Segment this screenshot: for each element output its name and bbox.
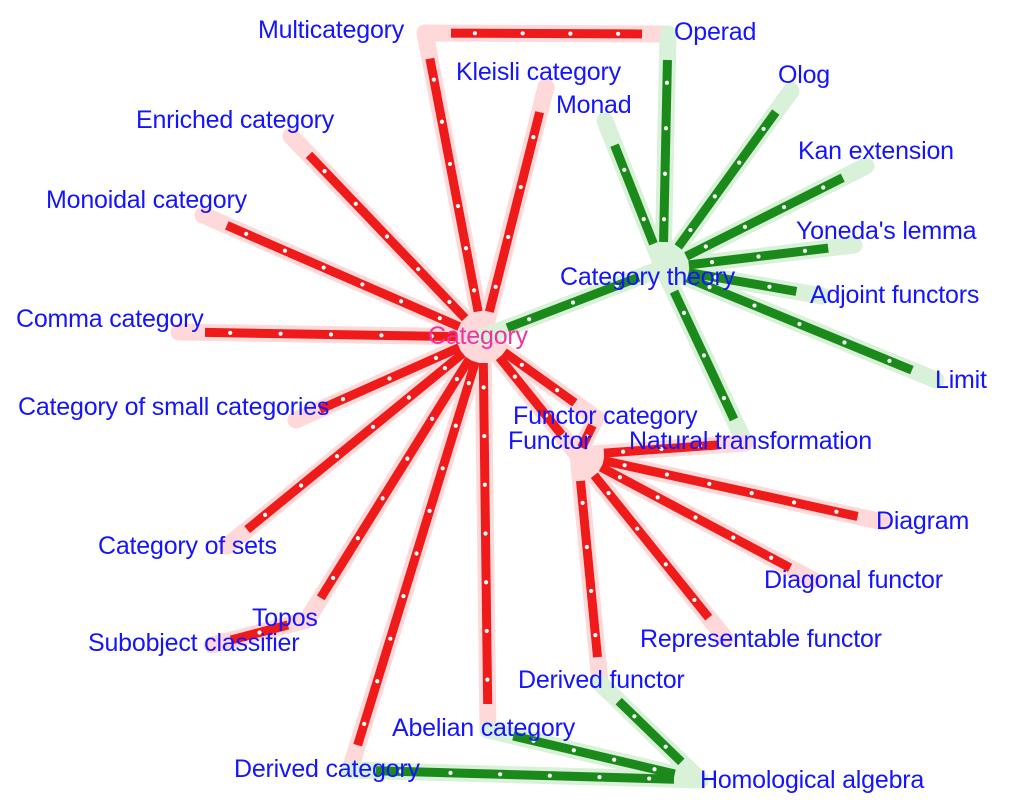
edge-direction-dot <box>356 536 360 540</box>
edge-direction-dot <box>756 254 760 258</box>
edge-direction-dot <box>606 491 610 495</box>
edge-direction-dot <box>635 527 639 531</box>
edge-direction-dot <box>792 500 796 504</box>
node-label-enriched-category[interactable]: Enriched category <box>136 108 334 133</box>
edge-direction-dot <box>663 172 667 176</box>
edge-direction-dot <box>622 168 626 172</box>
edge-direction-dot <box>322 169 326 173</box>
edge-direction-dot <box>455 377 459 381</box>
edge-direction-dot <box>589 589 593 593</box>
node-label-natural-transformation[interactable]: Natural transformation <box>629 429 872 454</box>
edge-direction-dot <box>665 472 669 476</box>
edge-direction-dot <box>448 162 452 166</box>
edge-direction-dot <box>483 531 487 535</box>
node-label-functor[interactable]: Functor <box>508 429 591 454</box>
node-label-category-theory[interactable]: Category theory <box>560 265 735 290</box>
edge-direction-dot <box>485 629 489 633</box>
edge-direction-dot <box>278 332 282 336</box>
edge-direction-dot <box>707 482 711 486</box>
edge-direction-dot <box>622 463 626 467</box>
node-label-category-of-small[interactable]: Category of small categories <box>18 395 329 420</box>
edge-direction-dot <box>407 395 411 399</box>
edge-direction-dot <box>782 205 786 209</box>
edge-direction-dot <box>664 745 668 749</box>
node-label-abelian-category[interactable]: Abelian category <box>392 716 575 741</box>
edge-direction-dot <box>438 316 442 320</box>
edge-direction-dot <box>571 300 575 304</box>
node-label-category[interactable]: Category <box>428 324 528 349</box>
edge-direction-dot <box>244 232 248 236</box>
edge-direction-dot <box>472 288 476 292</box>
edge-direction-dot <box>485 678 489 682</box>
concept-graph: MulticategoryOperadKleisli categoryMonad… <box>0 0 1024 807</box>
edge-direction-dot <box>414 551 418 555</box>
edge-green[interactable] <box>615 145 654 244</box>
edge-direction-dot <box>454 424 458 428</box>
edge-direction-dot <box>750 491 754 495</box>
edge-direction-dot <box>572 748 576 752</box>
node-label-kleisli-category[interactable]: Kleisli category <box>456 60 621 85</box>
edge-direction-dot <box>656 495 660 499</box>
edge-direction-dot <box>688 228 692 232</box>
edge-direction-dot <box>531 135 535 139</box>
edge-direction-dot <box>362 722 366 726</box>
edge-direction-dot <box>527 317 531 321</box>
edge-direction-dot <box>354 202 358 206</box>
node-label-category-of-sets[interactable]: Category of sets <box>98 534 277 559</box>
node-label-diagram[interactable]: Diagram <box>876 509 969 534</box>
edge-direction-dot <box>616 32 620 36</box>
edge-direction-dot <box>581 501 585 505</box>
edge-direction-dot <box>427 509 431 513</box>
node-label-diagonal-functor[interactable]: Diagonal functor <box>764 568 943 593</box>
edge-direction-dot <box>693 515 697 519</box>
edge-direction-dot <box>483 483 487 487</box>
edge-direction-dot <box>647 776 651 780</box>
edge-direction-dot <box>399 299 403 303</box>
edge-direction-dot <box>385 234 389 238</box>
edge-direction-dot <box>704 244 708 248</box>
edge-direction-dot <box>797 322 801 326</box>
edge-direction-dot <box>597 775 601 779</box>
node-label-yonedas-lemma[interactable]: Yoneda's lemma <box>796 219 976 244</box>
edge-direction-dot <box>662 217 666 221</box>
edge-direction-dot <box>482 434 486 438</box>
edge-direction-dot <box>498 772 502 776</box>
node-label-limit[interactable]: Limit <box>935 368 987 393</box>
edge-direction-dot <box>283 249 287 253</box>
edge-direction-dot <box>263 513 267 517</box>
edge-direction-dot <box>737 161 741 165</box>
edge-direction-dot <box>405 456 409 460</box>
node-label-comma-category[interactable]: Comma category <box>16 307 204 332</box>
edge-direction-dot <box>585 545 589 549</box>
node-label-derived-category[interactable]: Derived category <box>234 757 420 782</box>
edge-direction-dot <box>473 31 477 35</box>
edge-direction-dot <box>702 353 706 357</box>
edge-direction-dot <box>803 249 807 253</box>
node-label-adjoint-functors[interactable]: Adjoint functors <box>810 283 979 308</box>
edge-direction-dot <box>381 496 385 500</box>
edge-direction-dot <box>506 235 510 239</box>
edge-direction-dot <box>331 576 335 580</box>
edge-direction-dot <box>618 475 622 479</box>
node-label-representable-functor[interactable]: Representable functor <box>640 627 882 652</box>
edge-direction-dot <box>434 356 438 360</box>
edge-direction-dot <box>416 267 420 271</box>
edge-green[interactable] <box>619 701 682 762</box>
edge-direction-dot <box>548 774 552 778</box>
node-label-kan-extension[interactable]: Kan extension <box>798 139 954 164</box>
edge-direction-dot <box>329 332 333 336</box>
edge-direction-dot <box>632 714 636 718</box>
edge-direction-dot <box>371 425 375 429</box>
edge-direction-dot <box>887 359 891 363</box>
edge-direction-dot <box>448 771 452 775</box>
node-label-monoidal-category[interactable]: Monoidal category <box>46 188 247 213</box>
node-label-monad[interactable]: Monad <box>556 93 631 118</box>
edge-direction-dot <box>520 363 524 367</box>
edge-direction-dot <box>299 483 303 487</box>
edge-direction-dot <box>379 333 383 337</box>
edge-direction-dot <box>642 217 646 221</box>
edge-direction-dot <box>652 767 656 771</box>
edge-direction-dot <box>228 331 232 335</box>
edge-direction-dot <box>375 679 379 683</box>
node-label-olog[interactable]: Olog <box>778 63 830 88</box>
edge-direction-dot <box>612 758 616 762</box>
edge-direction-dot <box>555 388 559 392</box>
edge-direction-dot <box>430 417 434 421</box>
edge-direction-dot <box>769 556 773 560</box>
edge-direction-dot <box>443 366 447 370</box>
edge-direction-dot <box>731 536 735 540</box>
edge-direction-dot <box>842 340 846 344</box>
edge-direction-dot <box>767 285 771 289</box>
edge-direction-dot <box>322 265 326 269</box>
edge-direction-dot <box>593 633 597 637</box>
edge-green[interactable] <box>664 60 668 242</box>
edge-direction-dot <box>467 381 471 385</box>
node-label-subobject-classifier[interactable]: Subobject classifier <box>88 631 299 656</box>
edge-direction-dot <box>834 510 838 514</box>
node-label-operad[interactable]: Operad <box>674 20 756 45</box>
edge-direction-dot <box>713 194 717 198</box>
edge-direction-dot <box>335 454 339 458</box>
edge-direction-dot <box>401 594 405 598</box>
edge-direction-dot <box>360 282 364 286</box>
edge-direction-dot <box>494 285 498 289</box>
edge-red[interactable] <box>430 59 478 312</box>
edge-direction-dot <box>388 637 392 641</box>
edge-direction-dot <box>341 397 345 401</box>
edge-direction-dot <box>664 126 668 130</box>
edge-direction-dot <box>464 246 468 250</box>
edge-direction-dot <box>743 225 747 229</box>
edge-direction-dot <box>441 466 445 470</box>
edge-direction-dot <box>482 385 486 389</box>
edge-direction-dot <box>682 311 686 315</box>
edge-direction-dot <box>821 185 825 189</box>
edge-direction-dot <box>761 127 765 131</box>
node-label-multicategory[interactable]: Multicategory <box>258 18 404 43</box>
edge-direction-dot <box>621 450 625 454</box>
edge-red[interactable] <box>451 33 642 34</box>
edge-direction-dot <box>692 598 696 602</box>
edge-red[interactable] <box>489 112 539 312</box>
edge-direction-dot <box>440 120 444 124</box>
edge-direction-dot <box>568 31 572 35</box>
edge-direction-dot <box>665 81 669 85</box>
node-label-derived-functor[interactable]: Derived functor <box>518 668 685 693</box>
edge-direction-dot <box>387 376 391 380</box>
edge-direction-dot <box>447 300 451 304</box>
node-label-functor-category[interactable]: Functor category <box>513 404 697 429</box>
node-label-homological-algebra[interactable]: Homological algebra <box>700 768 924 793</box>
edge-direction-dot <box>521 31 525 35</box>
edge-direction-dot <box>456 204 460 208</box>
edge-direction-dot <box>484 580 488 584</box>
node-label-topos[interactable]: Topos <box>252 606 318 631</box>
edge-direction-dot <box>664 562 668 566</box>
edge-direction-dot <box>752 303 756 307</box>
edge-direction-dot <box>513 375 517 379</box>
edge-direction-dot <box>519 185 523 189</box>
edge-direction-dot <box>722 396 726 400</box>
edge-direction-dot <box>432 78 436 82</box>
